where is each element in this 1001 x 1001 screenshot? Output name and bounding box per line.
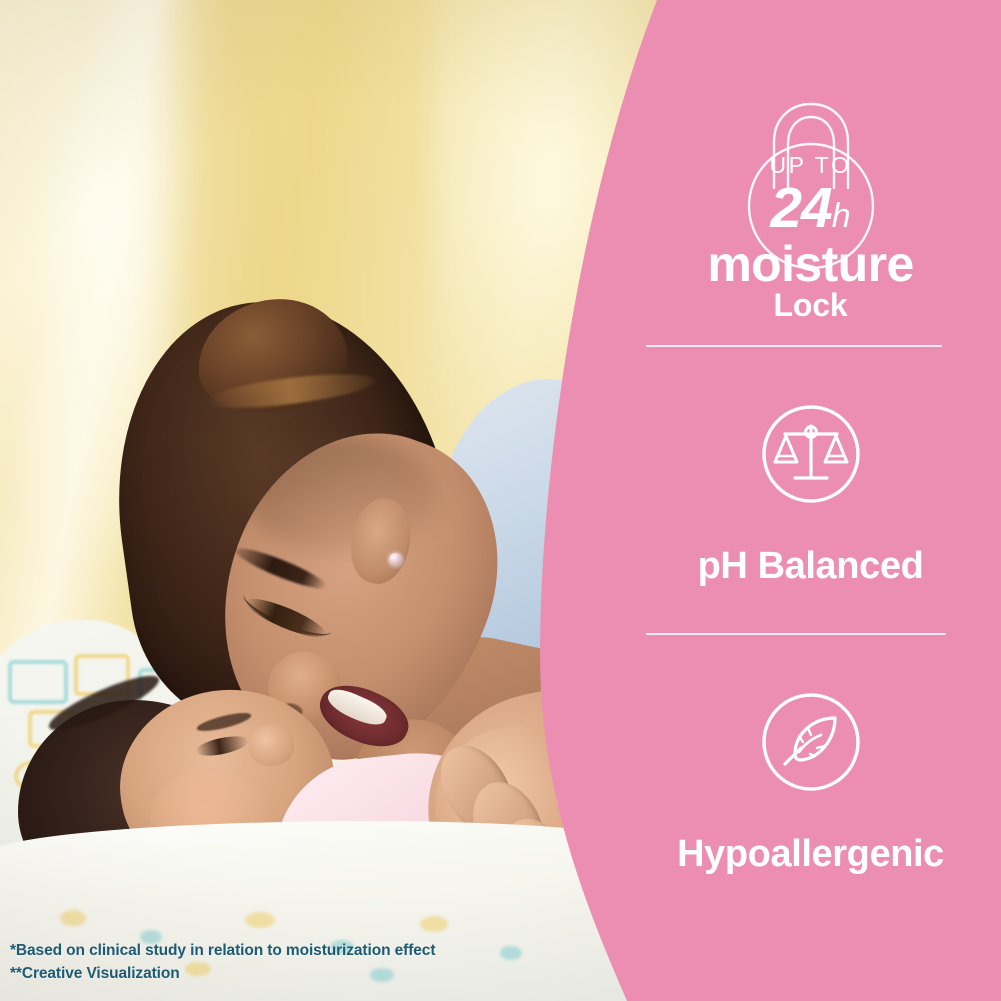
claim-moisture-lock: UP TO 24h moisture Lock (620, 96, 1001, 316)
balance-scale-icon (755, 398, 867, 510)
footnotes: *Based on clinical study in relation to … (10, 940, 435, 985)
panel-content: UP TO 24h moisture Lock pH (620, 0, 1001, 1001)
sheet-print-dot (245, 912, 275, 928)
footnote-2: **Creative Visualization (10, 963, 435, 985)
mother-earring (389, 553, 402, 566)
bumper-print (8, 660, 68, 704)
ph-balanced-label: pH Balanced (620, 546, 1001, 588)
duration-line: 24h (620, 181, 1001, 236)
feather-icon (755, 686, 867, 798)
moisture-lock-text: UP TO 24h moisture Lock (620, 154, 1001, 323)
moisture-word: moisture (620, 238, 1001, 290)
duration-unit: h (832, 197, 851, 235)
footnote-1: *Based on clinical study in relation to … (10, 940, 435, 962)
duration-number: 24 (770, 176, 831, 240)
sheet-print-dot (60, 910, 86, 926)
claim-ph-balanced: pH Balanced (620, 398, 1001, 588)
banner-canvas: UP TO 24h moisture Lock pH (0, 0, 1001, 1001)
sheet-print-dot (420, 916, 448, 932)
sheet-print-dot (500, 946, 522, 960)
divider-bottom (646, 633, 946, 635)
up-to-label: UP TO (620, 154, 1001, 177)
divider-top (646, 345, 942, 347)
lock-word: Lock (620, 288, 1001, 323)
claim-hypoallergenic: Hypoallergenic (620, 686, 1001, 876)
hypoallergenic-label: Hypoallergenic (620, 834, 1001, 876)
